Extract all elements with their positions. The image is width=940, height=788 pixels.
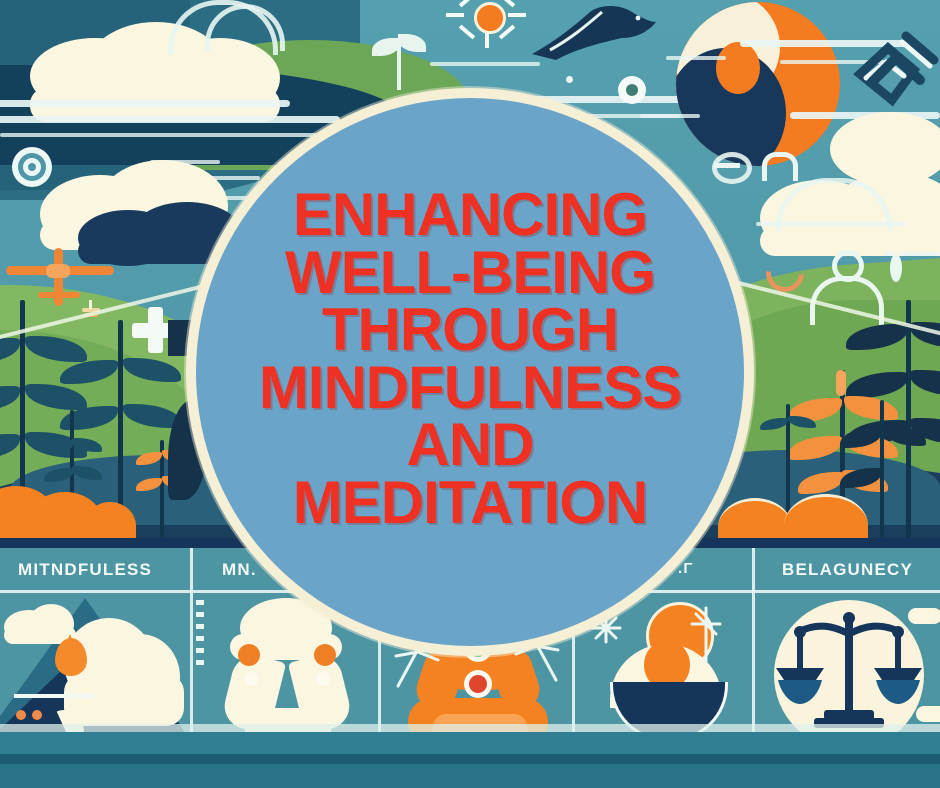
ring-dot-icon — [618, 76, 646, 104]
target-icon — [12, 147, 52, 187]
dot-sky-c1 — [566, 76, 573, 83]
sky-line-3 — [0, 133, 330, 137]
sky-line-r2 — [884, 252, 894, 256]
bird-icon — [528, 2, 658, 64]
sprout-icon — [374, 30, 424, 90]
sky-line-r3 — [756, 222, 906, 226]
sky-line-2 — [0, 116, 340, 123]
panel-band-4 — [0, 764, 940, 788]
airplane-icon — [6, 248, 116, 308]
orb-line-4 — [666, 56, 726, 60]
yin-yang-orb — [676, 2, 840, 166]
diamond-sparkle-icon — [890, 254, 902, 282]
sky-line-r1 — [900, 252, 940, 256]
panel-band-2 — [0, 732, 940, 754]
sun-rays-icon — [452, 0, 520, 64]
orb-line-5 — [640, 114, 700, 118]
poster-canvas: MITNDFULESS MN. .Γ BELAGUNECY — [0, 0, 940, 788]
label-partial: .Γ — [678, 560, 694, 577]
person-outline-icon — [810, 250, 874, 306]
page-title: ENHANCING WELL-BEING THROUGH MINDFULNESS… — [205, 186, 735, 532]
label-mn: MN. — [222, 560, 257, 580]
glyph-e-bar — [714, 163, 740, 168]
sky-line-1 — [0, 100, 290, 107]
glyph-e — [712, 152, 752, 184]
label-belagunecy: BELAGUNECY — [782, 560, 913, 580]
panel-band-1 — [0, 724, 940, 732]
bracket-glyph-icon — [862, 40, 940, 120]
panel-band-3 — [0, 754, 940, 764]
label-mindfulness: MITNDFULESS — [18, 560, 152, 580]
glyph-n — [762, 152, 798, 181]
sky-line-c1 — [430, 62, 540, 66]
